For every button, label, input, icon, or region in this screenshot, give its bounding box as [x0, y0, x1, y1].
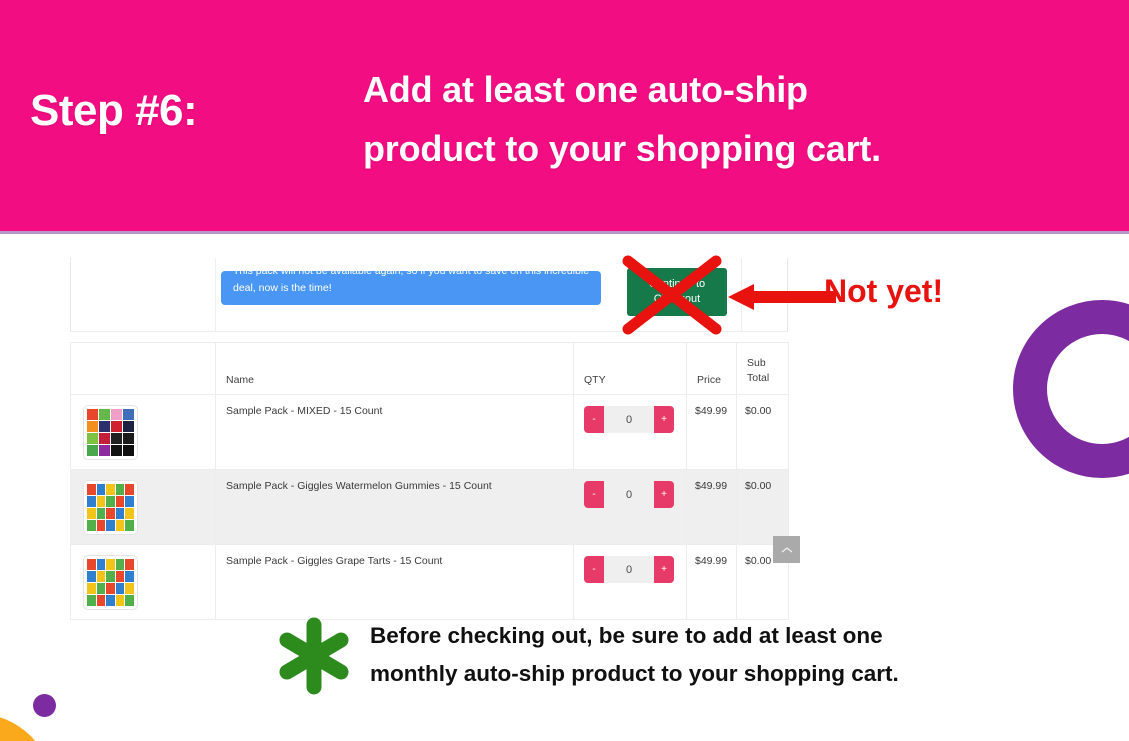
header-image	[71, 343, 216, 395]
row-product-name: Sample Pack - Giggles Watermelon Gummies…	[216, 470, 574, 545]
hero-banner: Step #6: Add at least one auto-ship prod…	[0, 0, 1129, 231]
row-thumbnail-cell	[71, 545, 216, 620]
quantity-decrement-button[interactable]: -	[584, 406, 604, 433]
quantity-stepper[interactable]: - 0 +	[584, 481, 674, 508]
quantity-value[interactable]: 0	[606, 489, 652, 501]
row-product-name: Sample Pack - Giggles Grape Tarts - 15 C…	[216, 545, 574, 620]
row-qty-cell: - 0 +	[574, 395, 687, 470]
hero-title: Add at least one auto-ship product to yo…	[363, 60, 1023, 178]
promo-banner: This pack will not be available again, s…	[221, 271, 601, 305]
quantity-increment-button[interactable]: +	[654, 481, 674, 508]
header-name: Name	[216, 343, 574, 395]
table-row: Sample Pack - MIXED - 15 Count - 0 + $49…	[71, 395, 789, 470]
hero-title-line1: Add at least one auto-ship	[363, 60, 1023, 119]
row-qty-cell: - 0 +	[574, 545, 687, 620]
chevron-up-icon	[781, 546, 793, 554]
cart-table-header-row: Name QTY Price Sub Total	[71, 343, 789, 395]
purple-ring-decoration	[1013, 300, 1129, 478]
red-left-arrow-icon	[728, 283, 836, 311]
header-sub-total: Sub Total	[737, 343, 789, 395]
cart-table: Name QTY Price Sub Total	[70, 342, 789, 620]
mixed-sample-pack-thumbnail	[83, 405, 138, 460]
quantity-increment-button[interactable]: +	[654, 406, 674, 433]
quantity-decrement-button[interactable]: -	[584, 481, 604, 508]
quantity-increment-button[interactable]: +	[654, 556, 674, 583]
row-sub-total: $0.00	[737, 395, 789, 470]
row-sub-total: $0.00	[737, 470, 789, 545]
header-price: Price	[687, 343, 737, 395]
grape-tarts-thumbnail	[83, 555, 138, 610]
quantity-stepper[interactable]: - 0 +	[584, 406, 674, 433]
header-qty: QTY	[574, 343, 687, 395]
footnote-line1: Before checking out, be sure to add at l…	[370, 617, 1050, 655]
header-sub-total-line1: Sub	[747, 356, 788, 371]
quantity-value[interactable]: 0	[606, 564, 652, 576]
scroll-to-top-button[interactable]	[773, 536, 800, 563]
promo-banner-text: This pack will not be available again, s…	[233, 271, 591, 297]
row-product-name: Sample Pack - MIXED - 15 Count	[216, 395, 574, 470]
row-price: $49.99	[687, 470, 737, 545]
table-row: Sample Pack - Giggles Watermelon Gummies…	[71, 470, 789, 545]
not-yet-annotation-label: Not yet!	[824, 273, 943, 310]
row-thumbnail-cell	[71, 470, 216, 545]
cart-table-head: Name QTY Price Sub Total	[71, 343, 789, 395]
quantity-decrement-button[interactable]: -	[584, 556, 604, 583]
quantity-stepper[interactable]: - 0 +	[584, 556, 674, 583]
row-price: $49.99	[687, 395, 737, 470]
footnote-text: Before checking out, be sure to add at l…	[370, 617, 1050, 693]
row-qty-cell: - 0 +	[574, 470, 687, 545]
row-thumbnail-cell	[71, 395, 216, 470]
header-sub-total-line2: Total	[747, 371, 788, 386]
table-row: Sample Pack - Giggles Grape Tarts - 15 C…	[71, 545, 789, 620]
footnote-line2: monthly auto-ship product to your shoppi…	[370, 655, 1050, 693]
purple-dot-decoration	[33, 694, 56, 717]
hero-underline-divider	[0, 231, 1129, 234]
watermelon-gummies-thumbnail	[83, 480, 138, 535]
red-x-cross-icon	[620, 255, 724, 335]
asterisk-icon	[275, 617, 353, 695]
step-label: Step #6:	[30, 86, 197, 136]
row-price: $49.99	[687, 545, 737, 620]
slide-root: Step #6: Add at least one auto-ship prod…	[0, 0, 1129, 741]
cart-table-body: Sample Pack - MIXED - 15 Count - 0 + $49…	[71, 395, 789, 620]
hero-title-line2: product to your shopping cart.	[363, 119, 1023, 178]
orange-wedge-decoration	[0, 714, 52, 741]
quantity-value[interactable]: 0	[606, 414, 652, 426]
promo-empty-cell	[71, 258, 216, 332]
